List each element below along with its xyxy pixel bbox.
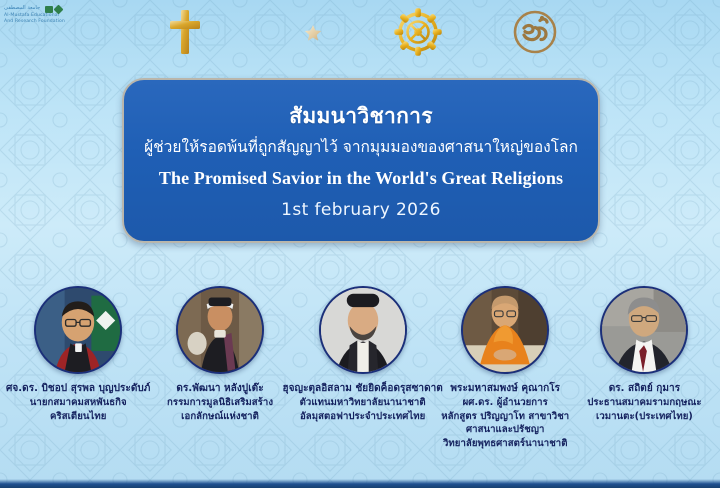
speaker-line-3-1: ตัวแทนมหาวิทยาลัยนานาชาติ [282, 396, 442, 410]
speaker-name-1: ศจ.ดร. บิชอป สุรพล บุญประดับภ์ [6, 382, 150, 396]
christian-cross-icon [158, 5, 212, 59]
banner-thai-title: สัมมนาวิชาการ [289, 101, 433, 133]
speakers-row: ศจ.ดร. บิชอป สุรพล บุญประดับภ์ นายกสมาคม… [0, 286, 720, 488]
speaker-portrait-dr-pattana [176, 286, 264, 374]
speaker-portrait-bishop-surapol [34, 286, 122, 374]
speaker-card-5: ดร. สถิตย์ กุมาร ประธานสมาคมรามกฤษณะ เวม… [575, 286, 714, 423]
bottom-accent-band [0, 479, 720, 488]
speaker-portrait-hujjatul-islam [319, 286, 407, 374]
speaker-line-5-2: เวมานตะ(ประเทศไทย) [587, 410, 701, 424]
om-icon [508, 5, 562, 59]
speaker-name-3: ฮุจญะตุลอิสลาม ชัยยิดค็อดรุสซาดาต [282, 382, 442, 396]
crescent-star-icon [275, 5, 329, 59]
speaker-line-4-2: หลักสูตร ปริญญาโท สาขาวิชา [441, 410, 569, 424]
speaker-portrait-dr-satit-kumar [600, 286, 688, 374]
speaker-name-2: ดร.พัฒนา หลังปูเต๊ะ [167, 382, 273, 396]
logo-mark-icon [45, 6, 62, 13]
speaker-caption-5: ดร. สถิตย์ กุมาร ประธานสมาคมรามกฤษณะ เวม… [587, 382, 701, 423]
logo-english-line1: Al-Mustafa Educational [4, 14, 108, 19]
seminar-poster: جامعة المصطفى Al-Mustafa Educational And… [0, 0, 720, 488]
event-title-banner: สัมมนาวิชาการ ผู้ช่วยให้รอดพ้นที่ถูกสัญญ… [122, 78, 600, 243]
speaker-name-5: ดร. สถิตย์ กุมาร [587, 382, 701, 396]
speaker-line-1-2: คริสเตียนไทย [6, 410, 150, 424]
speaker-line-4-3: ศาสนาและปรัชญา [441, 423, 569, 437]
banner-event-date: 1st february 2026 [281, 200, 441, 220]
speaker-line-2-2: เอกลักษณ์แห่งชาติ [167, 410, 273, 424]
speaker-card-2: ดร.พัฒนา หลังปูเต๊ะ กรรมการมูลนิธิเสริมส… [150, 286, 289, 423]
speaker-portrait-phra-maha-somphong [461, 286, 549, 374]
logo-arabic-text: جامعة المصطفى [4, 6, 40, 11]
speaker-caption-1: ศจ.ดร. บิชอป สุรพล บุญประดับภ์ นายกสมาคม… [6, 382, 150, 423]
speaker-caption-3: ฮุจญะตุลอิสลาม ชัยยิดค็อดรุสซาดาต ตัวแทน… [282, 382, 442, 423]
speaker-line-1-1: นายกสมาคมสหพันธกิจ [6, 396, 150, 410]
speaker-caption-4: พระมหาสมพงษ์ คุณากโร ผศ.ดร. ผู้อำนวยการ … [441, 382, 569, 451]
dharma-wheel-icon [391, 5, 445, 59]
foundation-logo: جامعة المصطفى Al-Mustafa Educational And… [4, 2, 108, 28]
speaker-card-4: พระมหาสมพงษ์ คุณากโร ผศ.ดร. ผู้อำนวยการ … [436, 286, 575, 451]
banner-english-title: The Promised Savior in the World's Great… [159, 164, 563, 193]
speaker-line-5-1: ประธานสมาคมรามกฤษณะ [587, 396, 701, 410]
speaker-line-3-2: อัลมุสตอฟาประจำประเทศไทย [282, 410, 442, 424]
logo-english-line2: And Research Foundation [4, 20, 108, 25]
speaker-line-4-4: วิทยาลัยพุทธศาสตร์นานาชาติ [441, 437, 569, 451]
religious-symbols-row [140, 4, 580, 60]
speaker-card-1: ศจ.ดร. บิชอป สุรพล บุญประดับภ์ นายกสมาคม… [6, 286, 150, 423]
speaker-line-2-1: กรรมการมูลนิธิเสริมสร้าง [167, 396, 273, 410]
speaker-line-4-1: ผศ.ดร. ผู้อำนวยการ [441, 396, 569, 410]
speaker-name-4: พระมหาสมพงษ์ คุณากโร [441, 382, 569, 396]
speaker-card-3: ฮุจญะตุลอิสลาม ชัยยิดค็อดรุสซาดาต ตัวแทน… [290, 286, 436, 423]
speaker-caption-2: ดร.พัฒนา หลังปูเต๊ะ กรรมการมูลนิธิเสริมส… [167, 382, 273, 423]
banner-thai-subtitle: ผู้ช่วยให้รอดพ้นที่ถูกสัญญาไว้ จากมุมมอง… [144, 135, 578, 159]
